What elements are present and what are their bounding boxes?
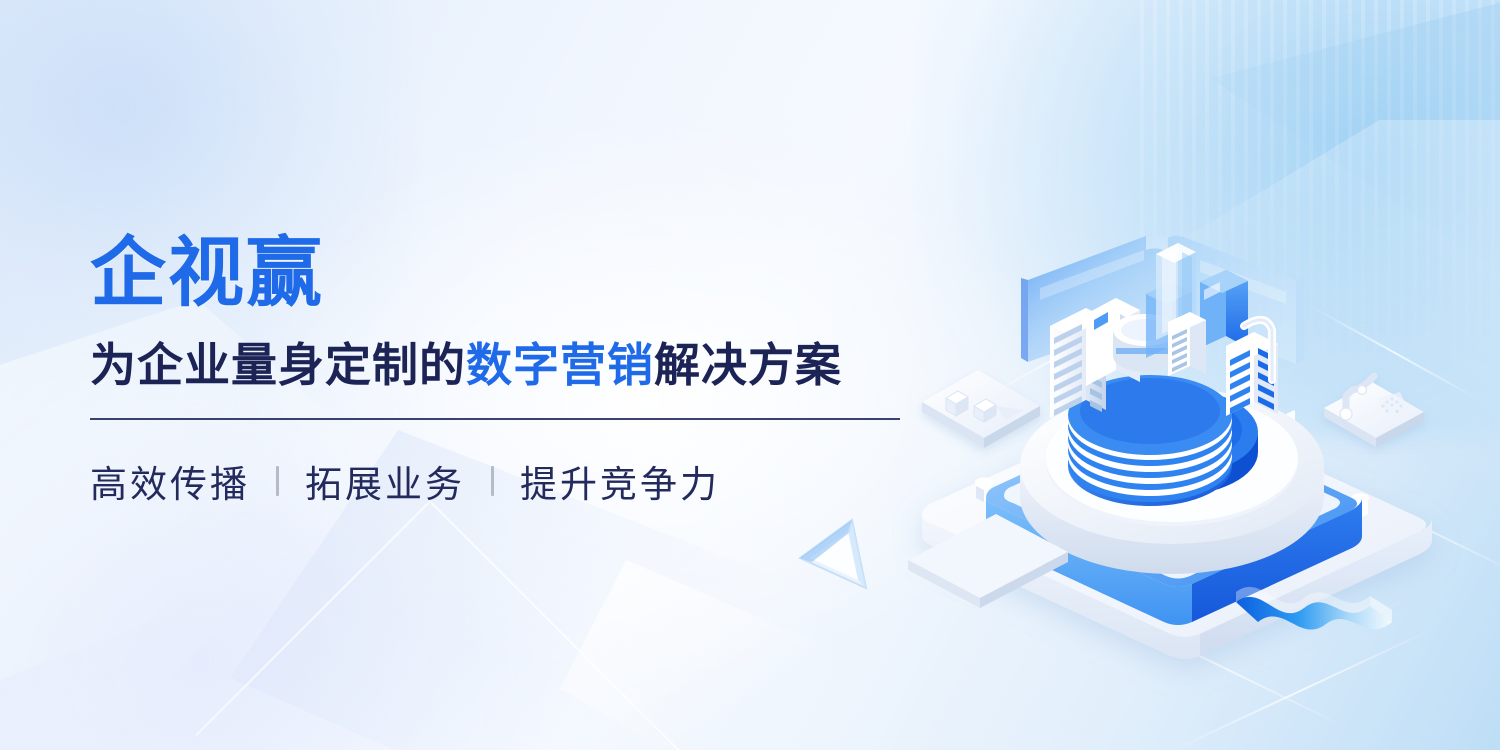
satellite-city-tile <box>922 370 1040 448</box>
glass-triangle <box>800 520 866 588</box>
tagline-item-3: 提升竞争力 <box>520 454 720 508</box>
tagline: 高效传播 拓展业务 提升竞争力 <box>90 454 920 508</box>
facet-shape-g <box>0 600 340 750</box>
divider-rule <box>90 418 900 420</box>
banner-text-block: 企视赢 为企业量身定制的数字营销解决方案 高效传播 拓展业务 提升竞争力 <box>90 236 920 508</box>
tagline-item-2: 拓展业务 <box>305 454 465 508</box>
isometric-illustration <box>900 230 1460 660</box>
facet-shape-d <box>560 560 860 750</box>
tagline-separator <box>491 466 494 496</box>
tagline-separator <box>276 466 279 496</box>
tagline-item-1: 高效传播 <box>90 454 250 508</box>
headline-part-1: 为企业量身定制的 <box>90 339 466 391</box>
headline-part-2: 解决方案 <box>654 339 842 391</box>
headline: 为企业量身定制的数字营销解决方案 <box>90 340 920 392</box>
headline-accent: 数字营销 <box>466 339 654 391</box>
brand-title: 企视赢 <box>90 236 920 312</box>
marketing-banner: 企视赢 为企业量身定制的数字营销解决方案 高效传播 拓展业务 提升竞争力 <box>0 0 1500 750</box>
satellite-robot-arm <box>1324 376 1424 447</box>
facet-chevron-outline <box>195 500 735 750</box>
